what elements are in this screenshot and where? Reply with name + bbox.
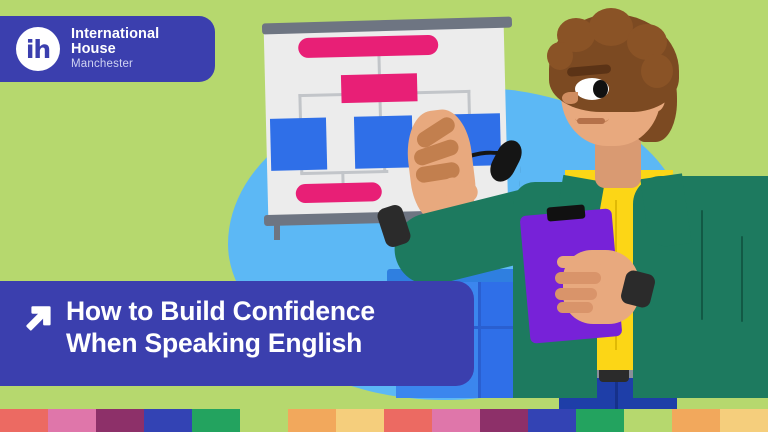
diagram-node-second-rect: [341, 73, 418, 103]
logo-text-block: International House Manchester: [71, 27, 159, 71]
diagram-node-top-pill: [298, 35, 438, 58]
logo-line-2: House: [71, 42, 159, 57]
strip-band-7: [336, 409, 384, 432]
hand-finger-4: [557, 302, 593, 313]
jacket-seam-1: [701, 210, 703, 320]
strip-band-9: [432, 409, 480, 432]
strip-band-3: [144, 409, 192, 432]
strip-band-2: [96, 409, 144, 432]
title-line-1: How to Build Confidence: [66, 295, 375, 327]
strip-band-8: [384, 409, 432, 432]
logo-monogram-text: ih: [26, 37, 50, 62]
podium-edge-line: [478, 282, 481, 398]
title-line-2: When Speaking English: [66, 327, 375, 359]
hand-finger-3: [555, 288, 597, 300]
title-text-block: How to Build Confidence When Speaking En…: [66, 295, 375, 360]
arrow-up-right-icon: [20, 301, 54, 340]
strip-band-14: [672, 409, 720, 432]
hair-curl-4: [641, 54, 673, 88]
title-banner: How to Build Confidence When Speaking En…: [0, 281, 474, 386]
screen-leg: [274, 222, 280, 240]
strip-band-6: [288, 409, 336, 432]
strip-band-1: [48, 409, 96, 432]
hand-finger-2: [555, 272, 601, 284]
strip-band-13: [624, 409, 672, 432]
nose: [562, 92, 578, 104]
diagram-node-left-box: [270, 117, 327, 170]
strip-band-12: [576, 409, 624, 432]
strip-band-15: [720, 409, 768, 432]
strip-band-4: [192, 409, 240, 432]
strip-band-0: [0, 409, 48, 432]
diagram-node-bottom-pill: [296, 182, 382, 203]
logo-line-1: International: [71, 27, 159, 42]
mouth: [577, 118, 605, 124]
strip-band-5: [240, 409, 288, 432]
diagram-node-center-box: [354, 115, 413, 168]
logo-line-3: Manchester: [71, 59, 159, 71]
eye-pupil: [593, 80, 608, 98]
logo-monogram-icon: ih: [16, 27, 60, 71]
jacket-seam-2: [741, 236, 743, 322]
strip-band-10: [480, 409, 528, 432]
poster-canvas: ih International House Manchester How to…: [0, 0, 768, 432]
hand-finger-1: [557, 256, 601, 268]
strip-band-11: [528, 409, 576, 432]
hair-curl-5: [547, 42, 573, 70]
presenter-figure: [505, 0, 768, 404]
bottom-color-strip: [0, 409, 768, 432]
logo-badge[interactable]: ih International House Manchester: [0, 16, 215, 82]
